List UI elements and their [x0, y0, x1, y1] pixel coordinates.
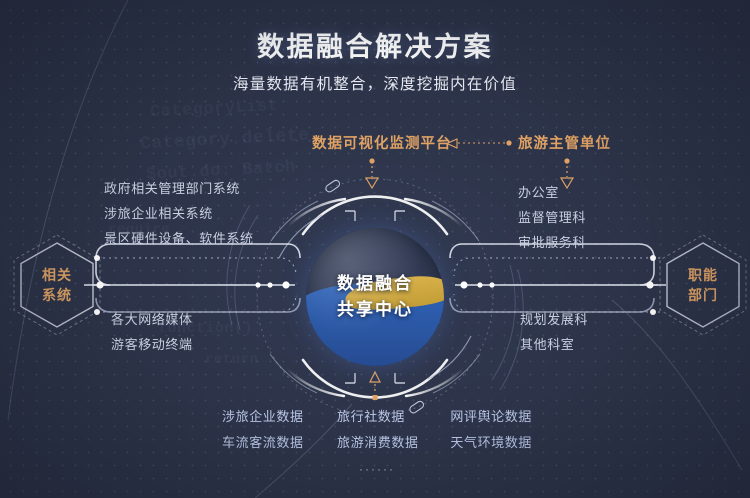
- page-title: 数据融合解决方案: [0, 25, 750, 64]
- bottom-data-categories: 涉旅企业数据 旅行社数据 网评舆论数据 车流客流数据 旅游消费数据 天气环境数据…: [222, 404, 532, 456]
- data-cell: 车流客流数据: [222, 430, 322, 456]
- data-row: 涉旅企业数据 旅行社数据 网评舆论数据: [222, 404, 532, 430]
- list-item: 监督管理科: [518, 205, 586, 230]
- data-cell: 旅游消费数据: [327, 430, 427, 456]
- list-item: 规划发展科: [520, 307, 588, 332]
- left-top-source-list: 政府相关管理部门系统 涉旅企业相关系统 景区硬件设备、软件系统: [104, 176, 254, 251]
- list-item: 其他科室: [520, 332, 588, 357]
- hexagon-left-line1: 相关: [42, 265, 72, 285]
- core-label: 数据融合 共享中心: [306, 228, 444, 366]
- list-item: 游客移动终端: [111, 332, 193, 357]
- hexagon-right-label: 职能 部门: [660, 235, 746, 335]
- hexagon-right-line2: 部门: [688, 285, 718, 305]
- list-item: 政府相关管理部门系统: [104, 176, 254, 201]
- hexagon-left-label: 相关 系统: [14, 235, 100, 335]
- list-item: 景区硬件设备、软件系统: [104, 226, 254, 251]
- data-row: 车流客流数据 旅游消费数据 天气环境数据: [222, 430, 532, 456]
- bottom-orange-connector: [370, 372, 380, 400]
- data-cell: 网评舆论数据: [432, 404, 532, 430]
- label-tourism-authority: 旅游主管单位: [518, 132, 611, 153]
- label-visualization-platform: 数据可视化监测平台: [312, 132, 452, 153]
- more-data-ellipsis: ······: [222, 462, 532, 476]
- left-bus-connector: [84, 244, 300, 315]
- list-item: 办公室: [518, 180, 586, 205]
- data-cell: 天气环境数据: [432, 430, 532, 456]
- left-bottom-source-list: 各大网络媒体 游客移动终端: [111, 307, 193, 357]
- list-item: 审批服务科: [518, 230, 586, 255]
- hexagon-badge-functional-departments: 职能 部门: [660, 235, 746, 335]
- core-line1: 数据融合: [337, 271, 413, 297]
- right-bottom-department-list: 规划发展科 其他科室: [520, 307, 588, 357]
- right-top-department-list: 办公室 监督管理科 审批服务科: [518, 180, 586, 255]
- core-line2: 共享中心: [337, 297, 413, 323]
- list-item: 涉旅企业相关系统: [104, 201, 254, 226]
- data-cell: 旅行社数据: [327, 404, 427, 430]
- hexagon-left-line2: 系统: [42, 285, 72, 305]
- data-cell: 涉旅企业数据: [222, 404, 322, 430]
- infographic-canvas: CategoryList Category.delete $out.do: Ba…: [0, 0, 750, 498]
- hexagon-badge-related-systems: 相关 系统: [14, 235, 100, 335]
- list-item: 各大网络媒体: [111, 307, 193, 332]
- page-subtitle: 海量数据有机整合，深度挖掘内在价值: [0, 72, 750, 94]
- hexagon-right-line1: 职能: [688, 265, 718, 285]
